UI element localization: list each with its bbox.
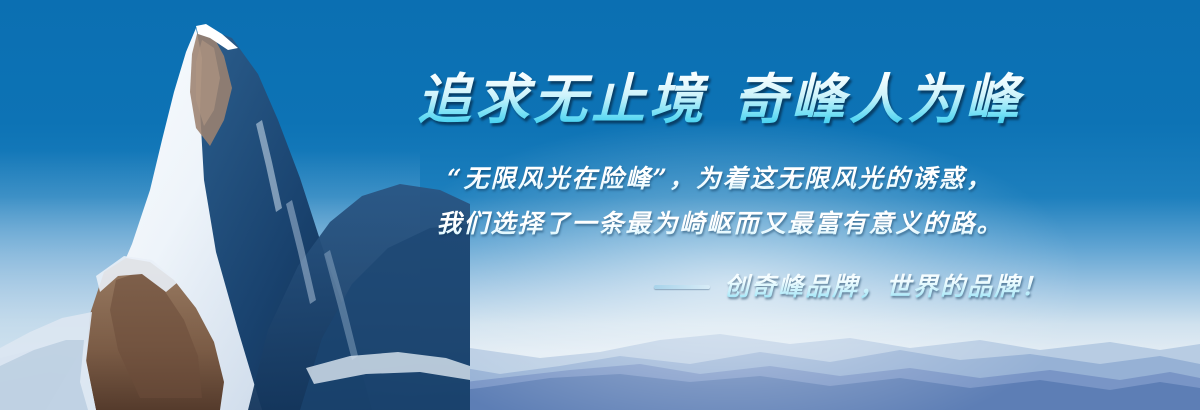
hero-banner: 追求无止境奇峰人为峰 “无限风光在险峰”，为着这无限风光的诱惑， 我们选择了一条… <box>0 0 1200 410</box>
headline-part-1: 追求无止境 <box>417 67 707 131</box>
banner-attribution: 创奇峰品牌，世界的品牌！ <box>370 268 1070 306</box>
body-line-1: “无限风光在险峰”，为着这无限风光的诱惑， <box>370 156 1070 201</box>
banner-text-block: 追求无止境奇峰人为峰 “无限风光在险峰”，为着这无限风光的诱惑， 我们选择了一条… <box>370 60 1070 306</box>
attribution-text: 创奇峰品牌，世界的品牌！ <box>724 268 1048 306</box>
banner-headline: 追求无止境奇峰人为峰 <box>370 60 1070 142</box>
banner-body: “无限风光在险峰”，为着这无限风光的诱惑， 我们选择了一条最为崎岖而又最富有意义… <box>370 156 1070 246</box>
em-dash-icon <box>654 285 710 289</box>
headline-part-2: 奇峰人为峰 <box>733 67 1023 131</box>
body-line-2: 我们选择了一条最为崎岖而又最富有意义的路。 <box>370 201 1070 246</box>
